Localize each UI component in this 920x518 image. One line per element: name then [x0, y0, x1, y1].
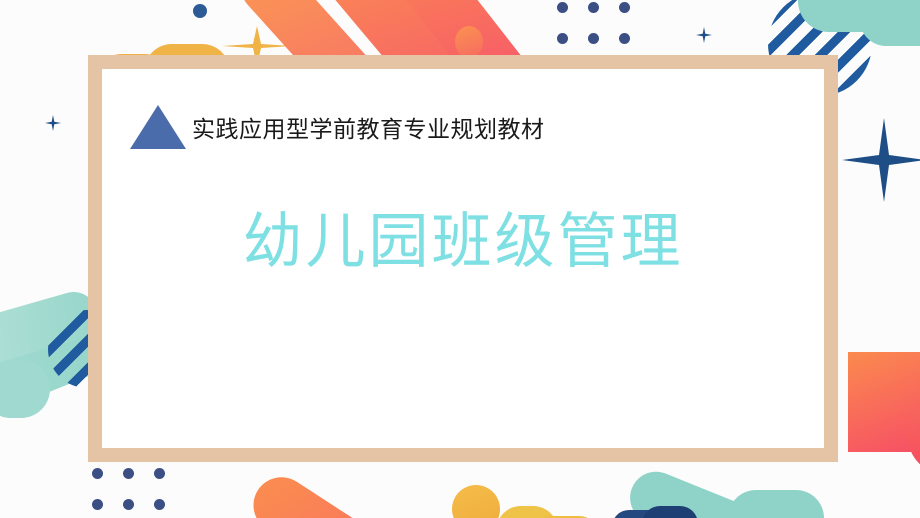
orange-bar-bottom [258, 462, 558, 518]
navy-dot-top-left [193, 4, 207, 18]
orange-circle-top [455, 26, 483, 58]
mint-blob-bottom-right [632, 462, 872, 518]
navy-blob-bottom [612, 506, 702, 518]
orange-pink-blob-right [848, 352, 920, 472]
blue-sparkle-top-center [696, 27, 712, 43]
brand-row: 实践应用型学前教育专业规划教材 [130, 104, 545, 150]
dot-grid-bottom-left [92, 468, 185, 518]
page-title: 幼儿园班级管理 [102, 209, 824, 275]
amber-circle-bottom [452, 485, 500, 518]
blue-sparkle-left [45, 115, 61, 131]
blue-sparkle-right [842, 118, 920, 202]
amber-blob-bottom [496, 500, 606, 518]
triangle-icon [130, 105, 186, 149]
presentation-slide: 实践应用型学前教育专业规划教材 幼儿园班级管理 [0, 0, 920, 518]
title-card-frame: 实践应用型学前教育专业规划教材 幼儿园班级管理 [88, 55, 838, 462]
series-label: 实践应用型学前教育专业规划教材 [192, 110, 545, 144]
